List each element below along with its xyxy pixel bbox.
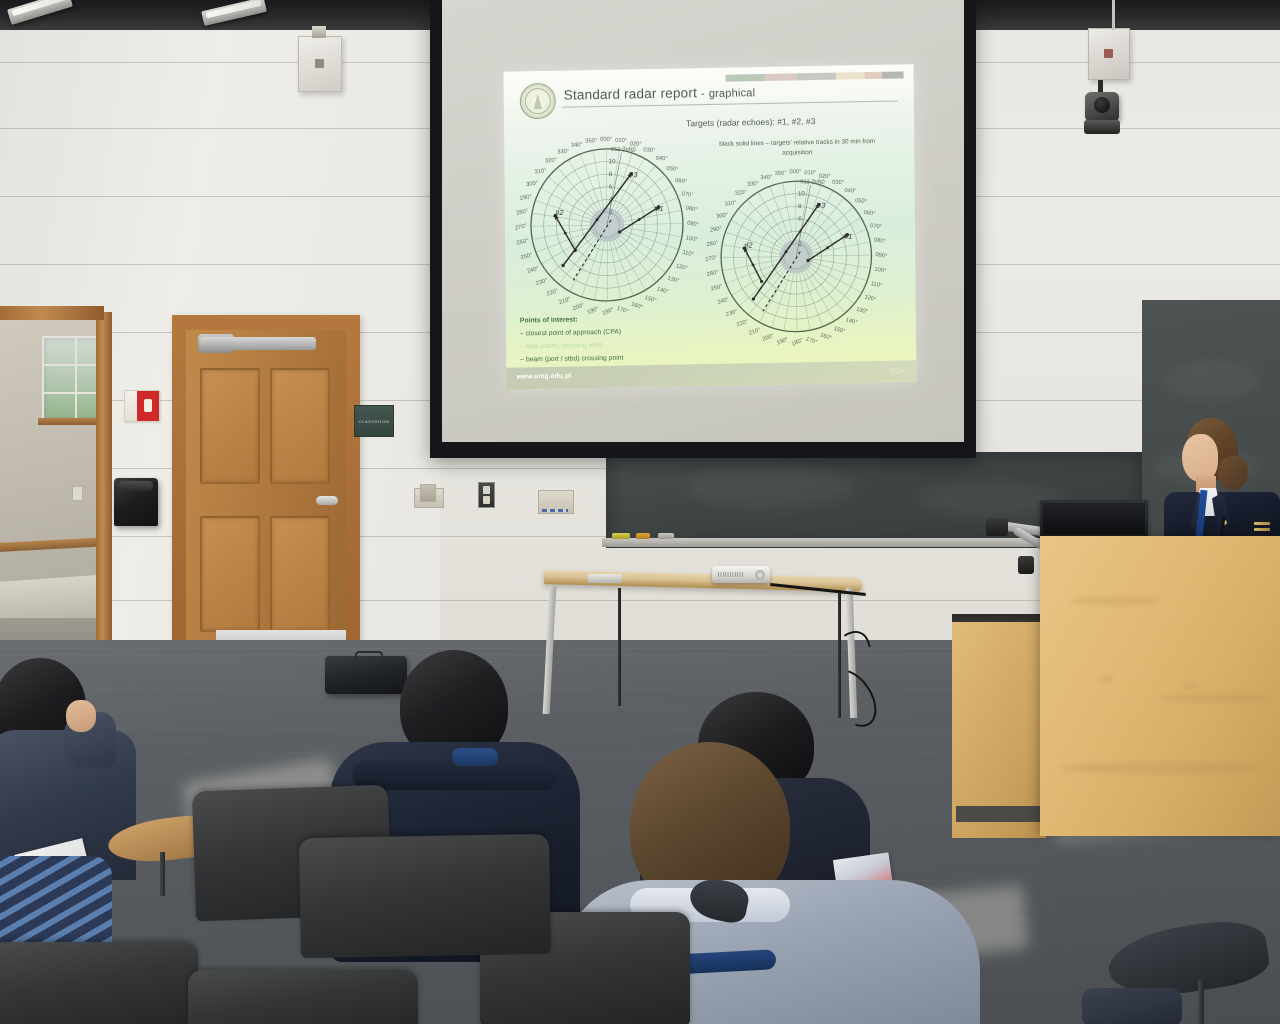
- svg-text:012 (hdg): 012 (hdg): [611, 147, 636, 153]
- svg-text:080°: 080°: [874, 237, 887, 245]
- svg-text:230°: 230°: [535, 278, 548, 287]
- wall-speaker-right: [1088, 28, 1130, 80]
- svg-text:330°: 330°: [747, 181, 759, 188]
- svg-text:120°: 120°: [675, 263, 688, 272]
- svg-text:090°: 090°: [686, 220, 699, 228]
- svg-text:270°: 270°: [515, 223, 528, 231]
- svg-text:8: 8: [609, 171, 613, 178]
- chair-tablet-post: [160, 852, 165, 896]
- svg-text:070°: 070°: [681, 191, 694, 198]
- wall-trash-bin[interactable]: [114, 478, 158, 526]
- radar-ppi-left: 000°010°020°030°040°050°060°070°080°090°…: [510, 128, 704, 322]
- svg-text:160°: 160°: [630, 302, 643, 311]
- targets-line: Targets (radar echoes): #1, #2, #3: [686, 116, 816, 128]
- svg-text:060°: 060°: [675, 178, 688, 185]
- svg-text:200°: 200°: [572, 303, 585, 313]
- ptz-camera[interactable]: [1085, 92, 1119, 122]
- equipment-case[interactable]: [325, 656, 407, 694]
- auditorium-chair[interactable]: [299, 834, 551, 958]
- svg-text:160°: 160°: [819, 332, 832, 341]
- svg-text:340°: 340°: [571, 142, 583, 149]
- svg-text:240°: 240°: [717, 297, 730, 306]
- door-header-left: [0, 306, 104, 320]
- audience-lanyard: [452, 748, 498, 766]
- svg-text:000°: 000°: [600, 137, 612, 143]
- svg-text:130°: 130°: [667, 276, 680, 285]
- svg-text:090°: 090°: [875, 252, 888, 260]
- fire-extinguisher-sign: [124, 390, 160, 422]
- svg-text:210°: 210°: [748, 327, 761, 337]
- presentation-slide: Standard radar report - graphical Target…: [504, 64, 917, 390]
- adjacent-room-opening: [0, 318, 108, 678]
- svg-text:260°: 260°: [706, 270, 719, 279]
- svg-text:#3: #3: [817, 201, 826, 210]
- svg-text:10: 10: [609, 158, 617, 165]
- svg-text:010°: 010°: [804, 170, 816, 176]
- svg-text:350°: 350°: [585, 138, 597, 144]
- poi-item-cpa: – closest point of approach (CPA): [520, 329, 621, 338]
- svg-text:#3: #3: [629, 170, 638, 179]
- svg-text:100°: 100°: [685, 235, 698, 243]
- projector[interactable]: [712, 566, 770, 583]
- speaker-conduit: [1112, 0, 1115, 30]
- svg-text:250°: 250°: [710, 284, 723, 293]
- svg-text:10: 10: [798, 190, 806, 197]
- audience-shoulder: [1082, 988, 1182, 1024]
- svg-text:190°: 190°: [776, 337, 789, 347]
- svg-text:300°: 300°: [716, 212, 729, 220]
- wall-plate-small: [420, 484, 436, 502]
- presenter: [1162, 418, 1280, 548]
- svg-text:280°: 280°: [706, 240, 719, 248]
- av-device[interactable]: [588, 574, 622, 583]
- svg-text:050°: 050°: [855, 198, 867, 205]
- svg-text:070°: 070°: [870, 223, 883, 230]
- svg-text:030°: 030°: [832, 180, 844, 187]
- svg-text:290°: 290°: [710, 226, 723, 234]
- svg-text:010°: 010°: [615, 138, 627, 144]
- svg-text:100°: 100°: [874, 267, 887, 275]
- svg-text:300°: 300°: [526, 180, 539, 188]
- poi-item-beam-crossing: – beam (port / stbd) crossing point: [520, 355, 623, 364]
- slide-page-number: 7/24: [890, 366, 905, 375]
- door-handle[interactable]: [316, 496, 338, 505]
- door-jamb-left: [96, 312, 112, 682]
- svg-text:030°: 030°: [643, 147, 655, 154]
- presenter-hair-bun: [1218, 456, 1248, 490]
- wall-chair-rail: [0, 537, 108, 552]
- monitor-arm-joint: [986, 518, 1008, 536]
- chalk-piece[interactable]: [612, 533, 630, 539]
- wall-outlet: [72, 486, 83, 501]
- svg-text:260°: 260°: [516, 238, 529, 247]
- slide-title-sub: graphical: [709, 87, 756, 100]
- slide-footer-url: www.umg.edu.pl: [516, 373, 571, 381]
- svg-text:150°: 150°: [833, 326, 846, 335]
- svg-text:210°: 210°: [558, 297, 571, 307]
- svg-text:140°: 140°: [656, 286, 669, 295]
- svg-text:290°: 290°: [520, 194, 533, 202]
- board-eraser[interactable]: [658, 533, 674, 539]
- monitor-arm-joint: [1018, 556, 1034, 574]
- svg-text:220°: 220°: [546, 288, 559, 297]
- svg-text:340°: 340°: [760, 175, 772, 182]
- podium-base-notch: [956, 806, 1044, 822]
- poi-heading: Points of interest:: [520, 316, 578, 324]
- audience-hand: [66, 700, 96, 732]
- svg-text:080°: 080°: [685, 206, 698, 214]
- wall-junction-box: [538, 490, 574, 514]
- podium: [1040, 536, 1280, 836]
- chalk-piece[interactable]: [636, 533, 650, 539]
- chair-tablet-post: [1198, 980, 1204, 1024]
- svg-text:#2: #2: [555, 208, 564, 217]
- svg-text:130°: 130°: [855, 307, 868, 316]
- svg-text:#1: #1: [655, 204, 663, 213]
- svg-text:110°: 110°: [870, 281, 882, 289]
- svg-text:250°: 250°: [520, 253, 533, 262]
- svg-text:140°: 140°: [845, 317, 858, 326]
- poi-item-bow-crossing: – bow (stem) crossing point: [520, 342, 603, 351]
- slide-title-main: Standard radar report: [564, 85, 697, 102]
- slide-title-dash: -: [701, 88, 705, 100]
- svg-text:012 (hdg): 012 (hdg): [800, 179, 825, 185]
- svg-text:220°: 220°: [736, 319, 749, 328]
- uniform-sleeve-stripe: [1254, 522, 1270, 525]
- svg-text:040°: 040°: [844, 188, 856, 195]
- svg-text:150°: 150°: [644, 295, 657, 304]
- lecture-hall-photo: CLASSROOM Standard radar report - graphi…: [0, 0, 1280, 1024]
- svg-text:170°: 170°: [616, 306, 629, 316]
- radar-ppi-right: 000°010°020°030°040°050°060°070°080°090°…: [700, 161, 892, 352]
- svg-text:6: 6: [798, 216, 802, 223]
- svg-text:#2: #2: [744, 241, 752, 250]
- speaker-bracket-left: [312, 26, 326, 38]
- svg-text:320°: 320°: [545, 157, 557, 164]
- classroom-door[interactable]: [186, 330, 346, 680]
- svg-text:190°: 190°: [587, 306, 600, 316]
- svg-text:330°: 330°: [557, 149, 569, 156]
- classroom-placard: CLASSROOM: [354, 405, 394, 437]
- svg-text:240°: 240°: [527, 266, 540, 275]
- classroom-placard-label: CLASSROOM: [359, 419, 390, 424]
- svg-text:6: 6: [609, 184, 613, 191]
- svg-text:180°: 180°: [791, 338, 804, 348]
- svg-text:060°: 060°: [863, 210, 875, 217]
- svg-text:270°: 270°: [705, 255, 718, 263]
- auditorium-chair[interactable]: [188, 970, 418, 1024]
- svg-text:180°: 180°: [602, 307, 615, 317]
- svg-text:120°: 120°: [864, 294, 877, 303]
- uniform-sleeve-stripe: [1254, 528, 1270, 531]
- table-leg: [618, 588, 621, 706]
- svg-text:000°: 000°: [790, 169, 802, 175]
- svg-text:310°: 310°: [724, 200, 736, 207]
- wall-speaker-left: [298, 36, 342, 92]
- svg-text:050°: 050°: [666, 166, 678, 173]
- wall-outlet-duplex[interactable]: [478, 482, 495, 508]
- svg-text:230°: 230°: [725, 309, 738, 318]
- svg-text:040°: 040°: [655, 156, 667, 163]
- svg-text:110°: 110°: [682, 250, 695, 258]
- door-closer-arm: [200, 337, 316, 350]
- svg-text:#1: #1: [844, 232, 852, 241]
- svg-text:200°: 200°: [762, 333, 775, 343]
- svg-text:350°: 350°: [775, 171, 787, 177]
- svg-text:280°: 280°: [516, 209, 529, 217]
- svg-text:320°: 320°: [735, 190, 747, 197]
- svg-text:170°: 170°: [805, 336, 818, 346]
- camera-base: [1084, 120, 1120, 134]
- svg-text:310°: 310°: [534, 168, 547, 175]
- university-seal-icon: [520, 83, 556, 120]
- svg-text:8: 8: [798, 203, 802, 210]
- presenter-face: [1182, 434, 1218, 482]
- auditorium-chair[interactable]: [0, 942, 198, 1024]
